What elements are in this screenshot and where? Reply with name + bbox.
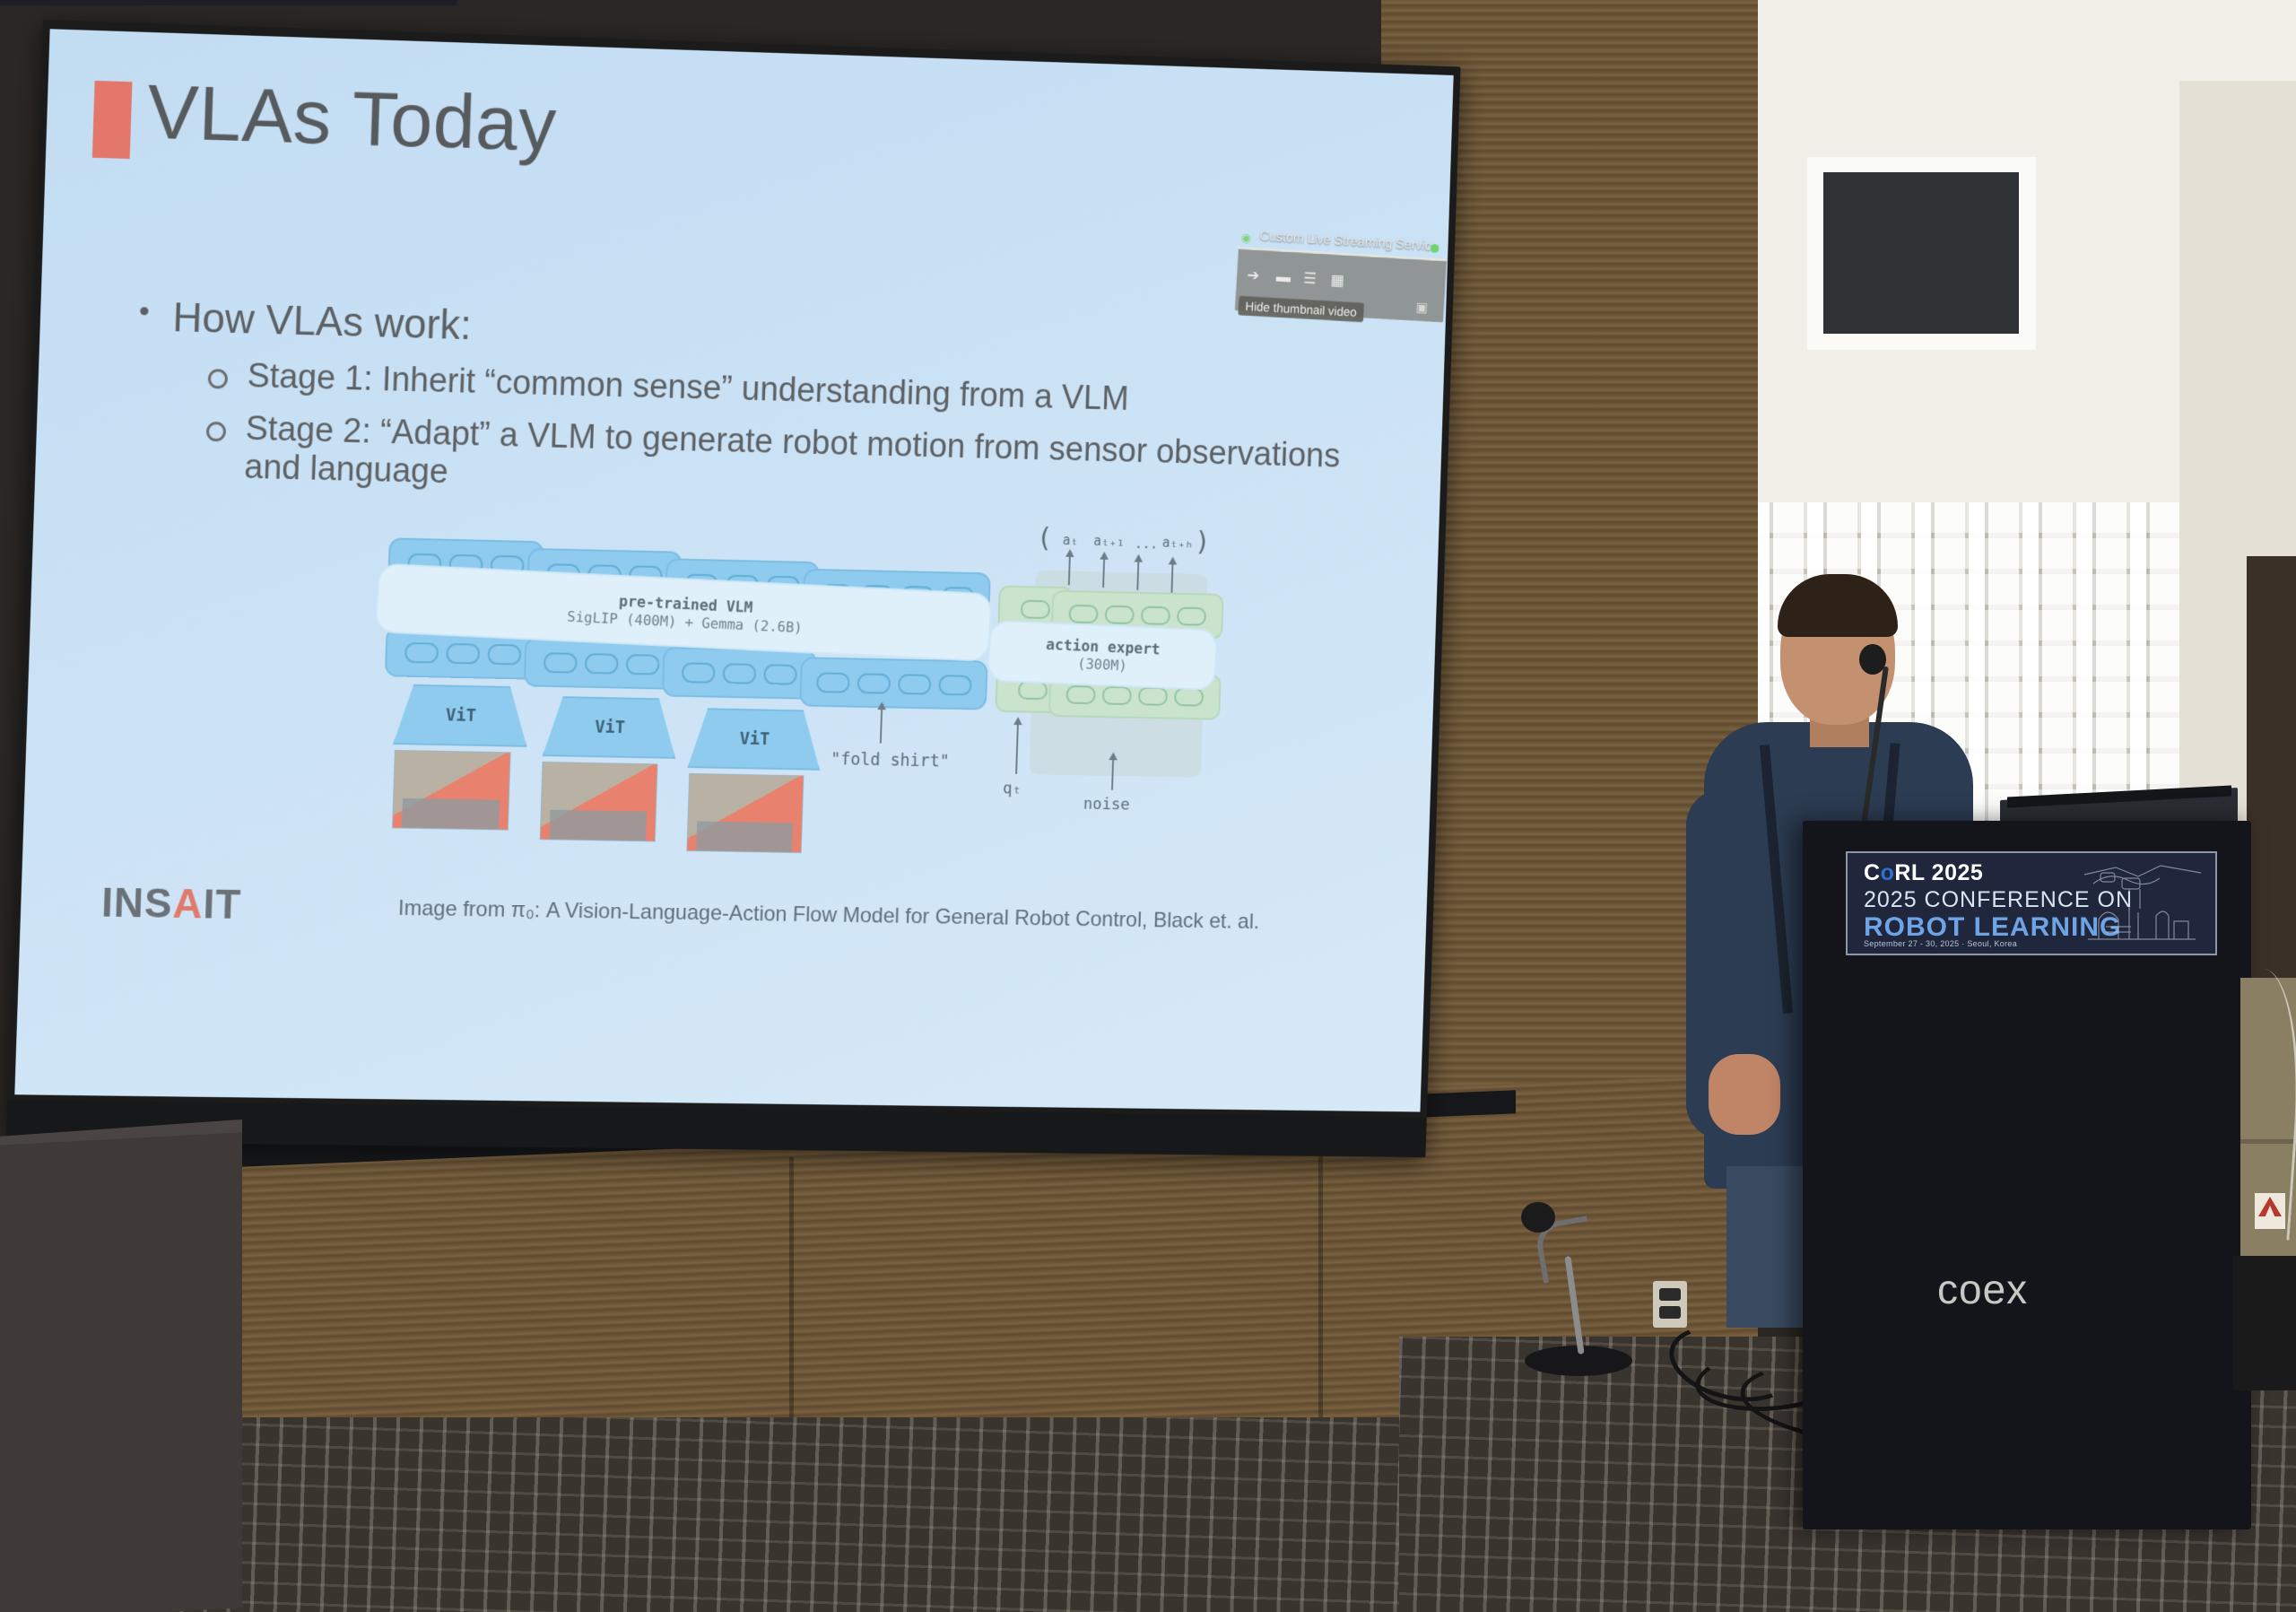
vit-label: ViT: [739, 729, 770, 749]
action-pill: [1021, 599, 1050, 618]
vit-encoder-2: ViT: [543, 696, 678, 759]
token-pill: [898, 674, 931, 694]
prompt-arrow-icon: [880, 708, 883, 743]
action-pill: [1138, 686, 1168, 705]
slide-title: VLAs Today: [146, 68, 558, 170]
camera-view-1: [392, 750, 511, 831]
action-token-bracket-left: (: [1036, 523, 1052, 554]
token-pill: [404, 641, 439, 663]
av-equipment-case: [2233, 1256, 2296, 1390]
action-expert-size: (300M): [1077, 655, 1127, 674]
token-pill: [816, 672, 850, 693]
slide-image-caption: Image from π₀: A Vision-Language-Action …: [350, 895, 1306, 936]
vit-label: ViT: [446, 705, 476, 725]
prompt-label: "fold shirt": [831, 749, 950, 771]
vit-encoder-1: ViT: [393, 684, 529, 746]
projector-screen: VLAs Today • How VLAs work: Stage 1: Inh…: [6, 20, 1461, 1157]
action-token-0: aₜ: [1063, 532, 1079, 548]
camera-view-2: [540, 762, 658, 841]
cursor-icon[interactable]: ➔: [1247, 266, 1260, 284]
slide-bullet-list: • How VLAs work: Stage 1: Inherit “commo…: [134, 292, 1385, 514]
doorway-dark: [2247, 556, 2296, 1023]
action-expert-title: action expert: [1046, 636, 1161, 658]
action-pill: [1141, 606, 1170, 624]
vla-architecture-diagram: pre-trained VLM SigLIP (400M) + Gemma (2…: [378, 521, 1240, 892]
state-arrow-icon: [1015, 723, 1019, 774]
insait-logo-part2: IT: [203, 880, 242, 928]
action-token-h: aₜ₊ₕ: [1162, 535, 1194, 551]
insait-logo-accent: A: [172, 880, 204, 927]
wall-recess-dark: [1823, 172, 2019, 334]
window-thumbnail-icon[interactable]: ▣: [1415, 299, 1428, 315]
action-pill: [1065, 684, 1095, 703]
bullet-marker-ring: [208, 369, 229, 388]
thumb-table: [697, 822, 793, 852]
podium: CoRL 2025 2025 CONFERENCE ON ROBOT LEARN…: [1803, 821, 2251, 1529]
headset-mic-capsule-icon: [1859, 644, 1886, 675]
insait-logo-part1: INS: [100, 879, 173, 927]
corl-brand: CoRL 2025: [1864, 860, 1983, 886]
token-pill: [585, 653, 619, 675]
token-pill: [626, 654, 660, 675]
action-token-bracket-right: ): [1195, 527, 1211, 558]
podium-surface: [0, 0, 457, 5]
token-group-bot-4: [799, 657, 987, 710]
bullet-text-0: How VLAs work:: [172, 292, 473, 349]
thumbnail-icon[interactable]: ▬: [1275, 268, 1291, 286]
corl-brand-o: o: [1881, 860, 1895, 885]
bullet-text-2: Stage 2: “Adapt” a VLM to generate robot…: [244, 410, 1381, 514]
token-pill: [487, 643, 521, 665]
token-pill: [446, 642, 480, 664]
action-pill: [1068, 604, 1098, 623]
token-pill: [938, 675, 971, 695]
wood-seam-2: [1318, 1126, 1323, 1422]
token-pill: [763, 664, 797, 684]
action-expert-block: action expert (300M): [987, 620, 1218, 691]
grid-view-icon[interactable]: ▦: [1330, 271, 1344, 289]
wood-seam-1: [789, 1157, 794, 1453]
signage-robot-skyline-artwork: [2075, 857, 2210, 950]
vit-label: ViT: [595, 718, 625, 737]
corl-brand-rest: RL 2025: [1894, 860, 1983, 885]
action-pill: [1174, 687, 1204, 706]
state-label: qₜ: [1003, 780, 1022, 798]
token-pill: [682, 662, 716, 683]
vit-encoder-3: ViT: [688, 708, 822, 771]
action-pill: [1102, 685, 1132, 704]
token-pill: [723, 663, 757, 684]
bullet-marker-dot: •: [138, 292, 150, 331]
noise-label: noise: [1083, 795, 1131, 815]
split-view-icon[interactable]: ☰: [1303, 270, 1318, 288]
speaker-hand: [1709, 1054, 1780, 1135]
title-accent-square: [92, 81, 133, 159]
live-streaming-overlay[interactable]: ◉ Custom Live Streaming Service ➔ ▬ ☰ ▦ …: [1233, 228, 1448, 344]
wall-power-outlet: [1653, 1281, 1687, 1328]
thumb-table: [402, 798, 499, 829]
action-pill: [1105, 605, 1135, 623]
bullet-marker-ring: [206, 422, 227, 441]
draped-table: [0, 1132, 242, 1612]
insait-logo: INSAIT: [100, 878, 242, 928]
token-group-bot-3: [662, 647, 817, 700]
signage-line4: September 27 - 30, 2025 · Seoul, Korea: [1864, 939, 2017, 948]
presentation-slide: VLAs Today • How VLAs work: Stage 1: Inh…: [14, 29, 1453, 1111]
action-token-ellipsis: ...: [1135, 536, 1158, 552]
token-pill: [857, 673, 890, 693]
thumb-table: [550, 810, 647, 841]
action-token-1: aₜ₊₁: [1093, 533, 1125, 549]
wifi-icon: ◉: [1240, 231, 1252, 246]
microphone-capsule-icon: [1521, 1202, 1555, 1233]
corl-brand-c: C: [1864, 860, 1881, 885]
camera-view-3: [686, 773, 804, 853]
bullet-level2-b: Stage 2: “Adapt” a VLM to generate robot…: [204, 409, 1380, 514]
conference-signage: CoRL 2025 2025 CONFERENCE ON ROBOT LEARN…: [1846, 851, 2217, 955]
conference-room-photo: VLAs Today • How VLAs work: Stage 1: Inh…: [0, 0, 2296, 1612]
token-pill: [544, 652, 578, 674]
bullet-text-1: Stage 1: Inherit “common sense” understa…: [247, 357, 1129, 418]
action-pill: [1177, 606, 1206, 625]
coex-venue-logo: coex: [1937, 1265, 2028, 1313]
